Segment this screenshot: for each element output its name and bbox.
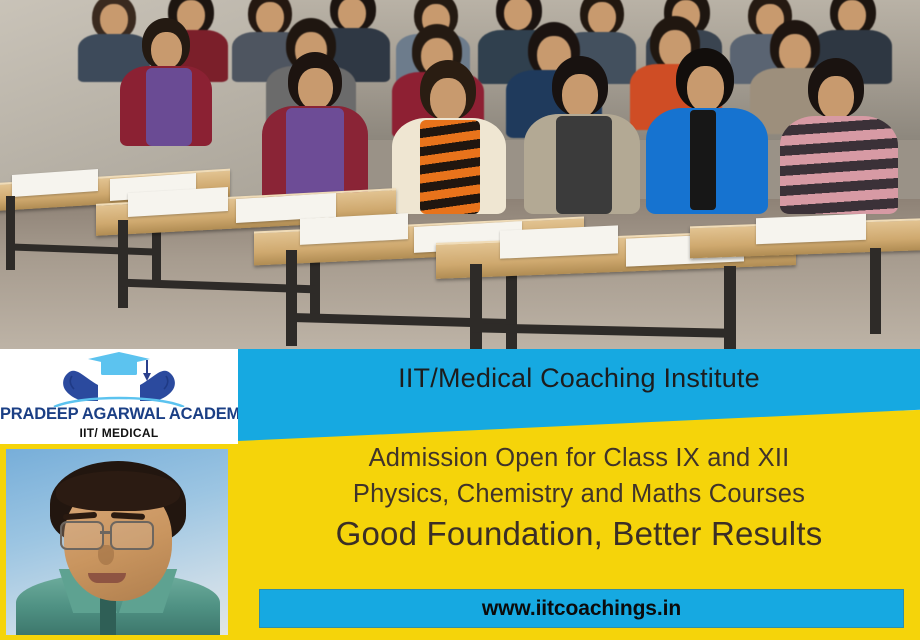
- portrait-nose: [98, 545, 114, 565]
- poster-root: PRADEEP AGARWAL ACADEMY IIT/ MEDICAL IIT…: [0, 0, 920, 640]
- portrait-eyeglass-right: [110, 521, 154, 550]
- classroom-students-photo: [0, 0, 920, 349]
- admission-pitch: Admission Open for Class IX and XII Phys…: [238, 440, 920, 556]
- founder-portrait-photo: [6, 449, 228, 635]
- hands-holding-graduation-cap-icon: [0, 351, 238, 407]
- portrait-hair-fringe: [56, 471, 180, 511]
- academy-subtitle: IIT/ MEDICAL: [0, 426, 238, 440]
- portrait-shirt-placket: [100, 595, 116, 635]
- website-url-bar[interactable]: www.iitcoachings.in: [259, 589, 904, 628]
- portrait-mouth: [88, 573, 126, 583]
- institute-title: IIT/Medical Coaching Institute: [238, 363, 920, 394]
- pitch-line-tagline: Good Foundation, Better Results: [238, 512, 920, 556]
- academy-name: PRADEEP AGARWAL ACADEMY: [0, 405, 238, 424]
- pitch-line-admission: Admission Open for Class IX and XII: [238, 440, 920, 476]
- portrait-eyeglass-bridge: [100, 531, 110, 534]
- pitch-line-subjects: Physics, Chemistry and Maths Courses: [238, 476, 920, 512]
- portrait-eyeglass-left: [60, 521, 104, 550]
- founder-portrait-frame: [0, 444, 238, 640]
- academy-logo-panel: PRADEEP AGARWAL ACADEMY IIT/ MEDICAL: [0, 349, 238, 444]
- website-url: www.iitcoachings.in: [482, 597, 681, 621]
